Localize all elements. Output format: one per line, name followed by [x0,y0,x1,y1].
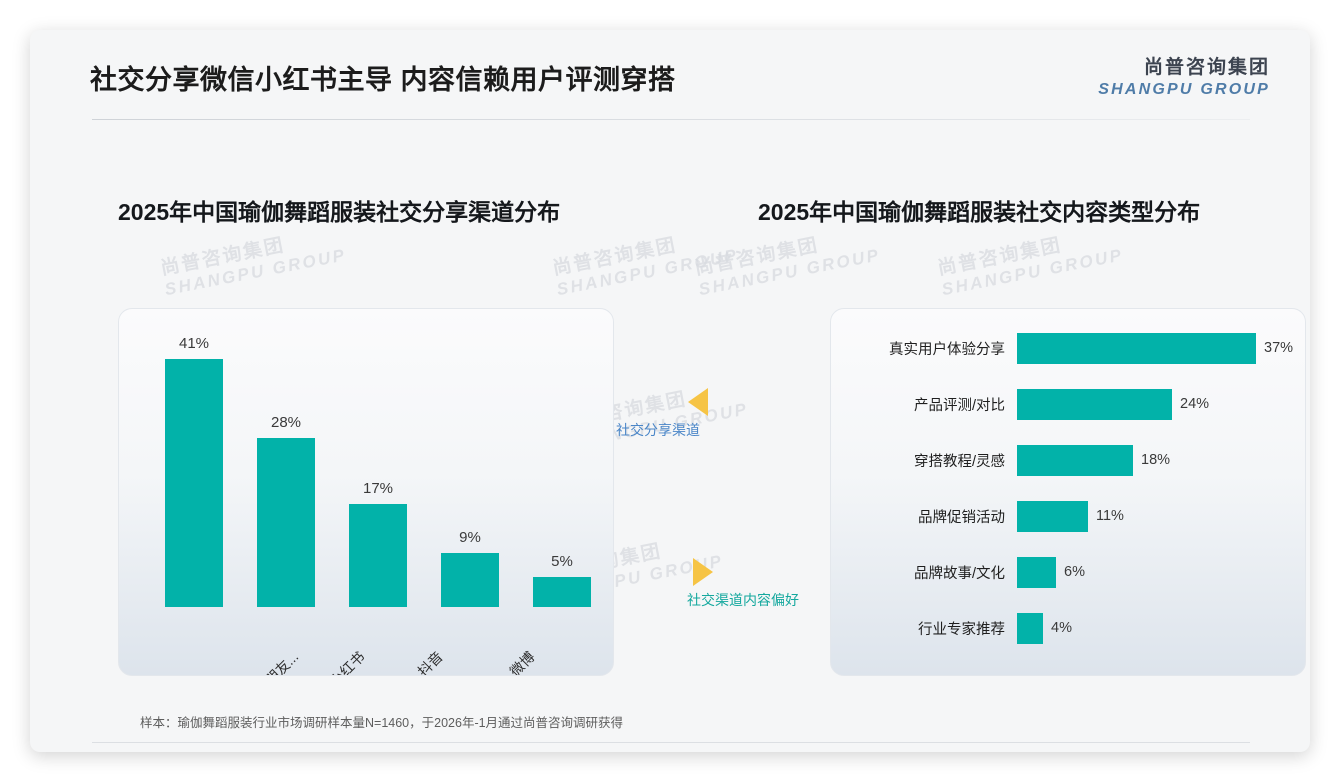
right-chart-title: 2025年中国瑜伽舞蹈服装社交内容类型分布 [758,193,1200,227]
watermark-cn: 尚普咨询集团 [158,219,344,281]
logo-english-text: SHANGPU GROUP [1098,80,1270,100]
bar-category-label: 微信朋友... [241,647,303,676]
bar-rect[interactable] [257,438,315,607]
bar-value-label: 17% [363,480,393,497]
bar-category-label: 微博 [505,647,539,676]
annotation-label: 社交分享渠道 [616,420,708,440]
watermark-cn: 尚普咨询集团 [692,219,878,281]
logo-chinese-text: 尚普咨询集团 [1098,56,1270,80]
annotation-label: 社交渠道内容偏好 [687,590,799,610]
website-link[interactable]: www.shangpu-china.com [1100,750,1238,752]
bar-value-label: 28% [271,414,301,431]
bar-category-label: 真实用户体验分享 [831,338,1017,359]
watermark-cn: 尚普咨询集团 [935,219,1121,281]
watermark: 尚普咨询集团 SHANGPU GROUP [935,219,1125,300]
bar-rect[interactable] [1017,501,1088,532]
bar-category-label: 抖音 [413,647,447,676]
bar-row: 行业专家推荐4% [831,611,1305,645]
left-chart-title: 2025年中国瑜伽舞蹈服装社交分享渠道分布 [118,193,560,227]
bar-column: 17% [349,504,407,607]
bar-row: 品牌故事/文化6% [831,555,1305,589]
right-chart-card: 真实用户体验分享37%产品评测/对比24%穿搭教程/灵感18%品牌促销活动11%… [830,308,1306,676]
bar-rect[interactable] [1017,557,1056,588]
bar-category-label: 线下口头... [609,647,614,676]
bar-rect[interactable] [441,553,499,607]
bar-value-label: 9% [459,529,481,546]
copyright-text: ©2026.1 SHANGPU GROUP [102,750,264,752]
watermark-en: SHANGPU GROUP [697,245,882,300]
header-divider [92,119,1250,120]
annotation-social-share-channel: 社交分享渠道 [616,388,708,440]
page-title: 社交分享微信小红书主导 内容信赖用户评测穿搭 [90,58,676,97]
watermark: 尚普咨询集团 SHANGPU GROUP [550,219,740,300]
vertical-bar-plot: 41%微信朋友...28%小红书17%抖音9%微博5%线下口头... [139,335,601,607]
bar-value-label: 6% [1056,564,1085,580]
watermark: 尚普咨询集团 SHANGPU GROUP [158,219,348,300]
left-chart-card: 41%微信朋友...28%小红书17%抖音9%微博5%线下口头... [118,308,614,676]
bar-category-label: 产品评测/对比 [831,394,1017,415]
bar-value-label: 37% [1256,340,1293,356]
slide-canvas: 尚普咨询集团 SHANGPU GROUP 尚普咨询集团 SHANGPU GROU… [30,30,1310,752]
bar-value-label: 24% [1172,396,1209,412]
bar-category-label: 品牌故事/文化 [831,562,1017,583]
watermark: 尚普咨询集团 SHANGPU GROUP [692,219,882,300]
triangle-left-icon [688,388,708,416]
bar-value-label: 18% [1133,452,1170,468]
bar-value-label: 4% [1043,620,1072,636]
triangle-right-icon [693,558,713,586]
bar-rect[interactable] [1017,389,1172,420]
bar-rect[interactable] [1017,333,1256,364]
footer-divider [92,742,1250,743]
bar-rect[interactable] [165,359,223,607]
bar-category-label: 小红书 [325,647,369,676]
bar-value-label: 5% [551,553,573,570]
bar-row: 穿搭教程/灵感18% [831,443,1305,477]
bar-category-label: 穿搭教程/灵感 [831,450,1017,471]
watermark-en: SHANGPU GROUP [163,245,348,300]
bar-value-label: 41% [179,335,209,352]
watermark-en: SHANGPU GROUP [555,245,740,300]
bar-row: 真实用户体验分享37% [831,331,1305,365]
bar-rect[interactable] [349,504,407,607]
bar-row: 品牌促销活动11% [831,499,1305,533]
bar-row: 产品评测/对比24% [831,387,1305,421]
sample-note: 样本：瑜伽舞蹈服装行业市场调研样本量N=1460，于2026年-1月通过尚普咨询… [140,712,623,731]
bar-rect[interactable] [533,577,591,607]
bar-value-label: 11% [1088,508,1124,524]
slide-header: 社交分享微信小红书主导 内容信赖用户评测穿搭 尚普咨询集团 SHANGPU GR… [30,30,1310,120]
watermark-cn: 尚普咨询集团 [550,219,736,281]
brand-logo: 尚普咨询集团 SHANGPU GROUP [1098,56,1270,100]
annotation-content-preference: 社交渠道内容偏好 [687,558,799,610]
watermark-en: SHANGPU GROUP [940,245,1125,300]
bar-rect[interactable] [1017,613,1043,644]
bar-column: 5% [533,577,591,607]
bar-column: 41% [165,359,223,607]
bar-column: 9% [441,553,499,607]
bar-category-label: 行业专家推荐 [831,618,1017,639]
bar-category-label: 品牌促销活动 [831,506,1017,527]
bar-column: 28% [257,438,315,607]
bar-rect[interactable] [1017,445,1133,476]
